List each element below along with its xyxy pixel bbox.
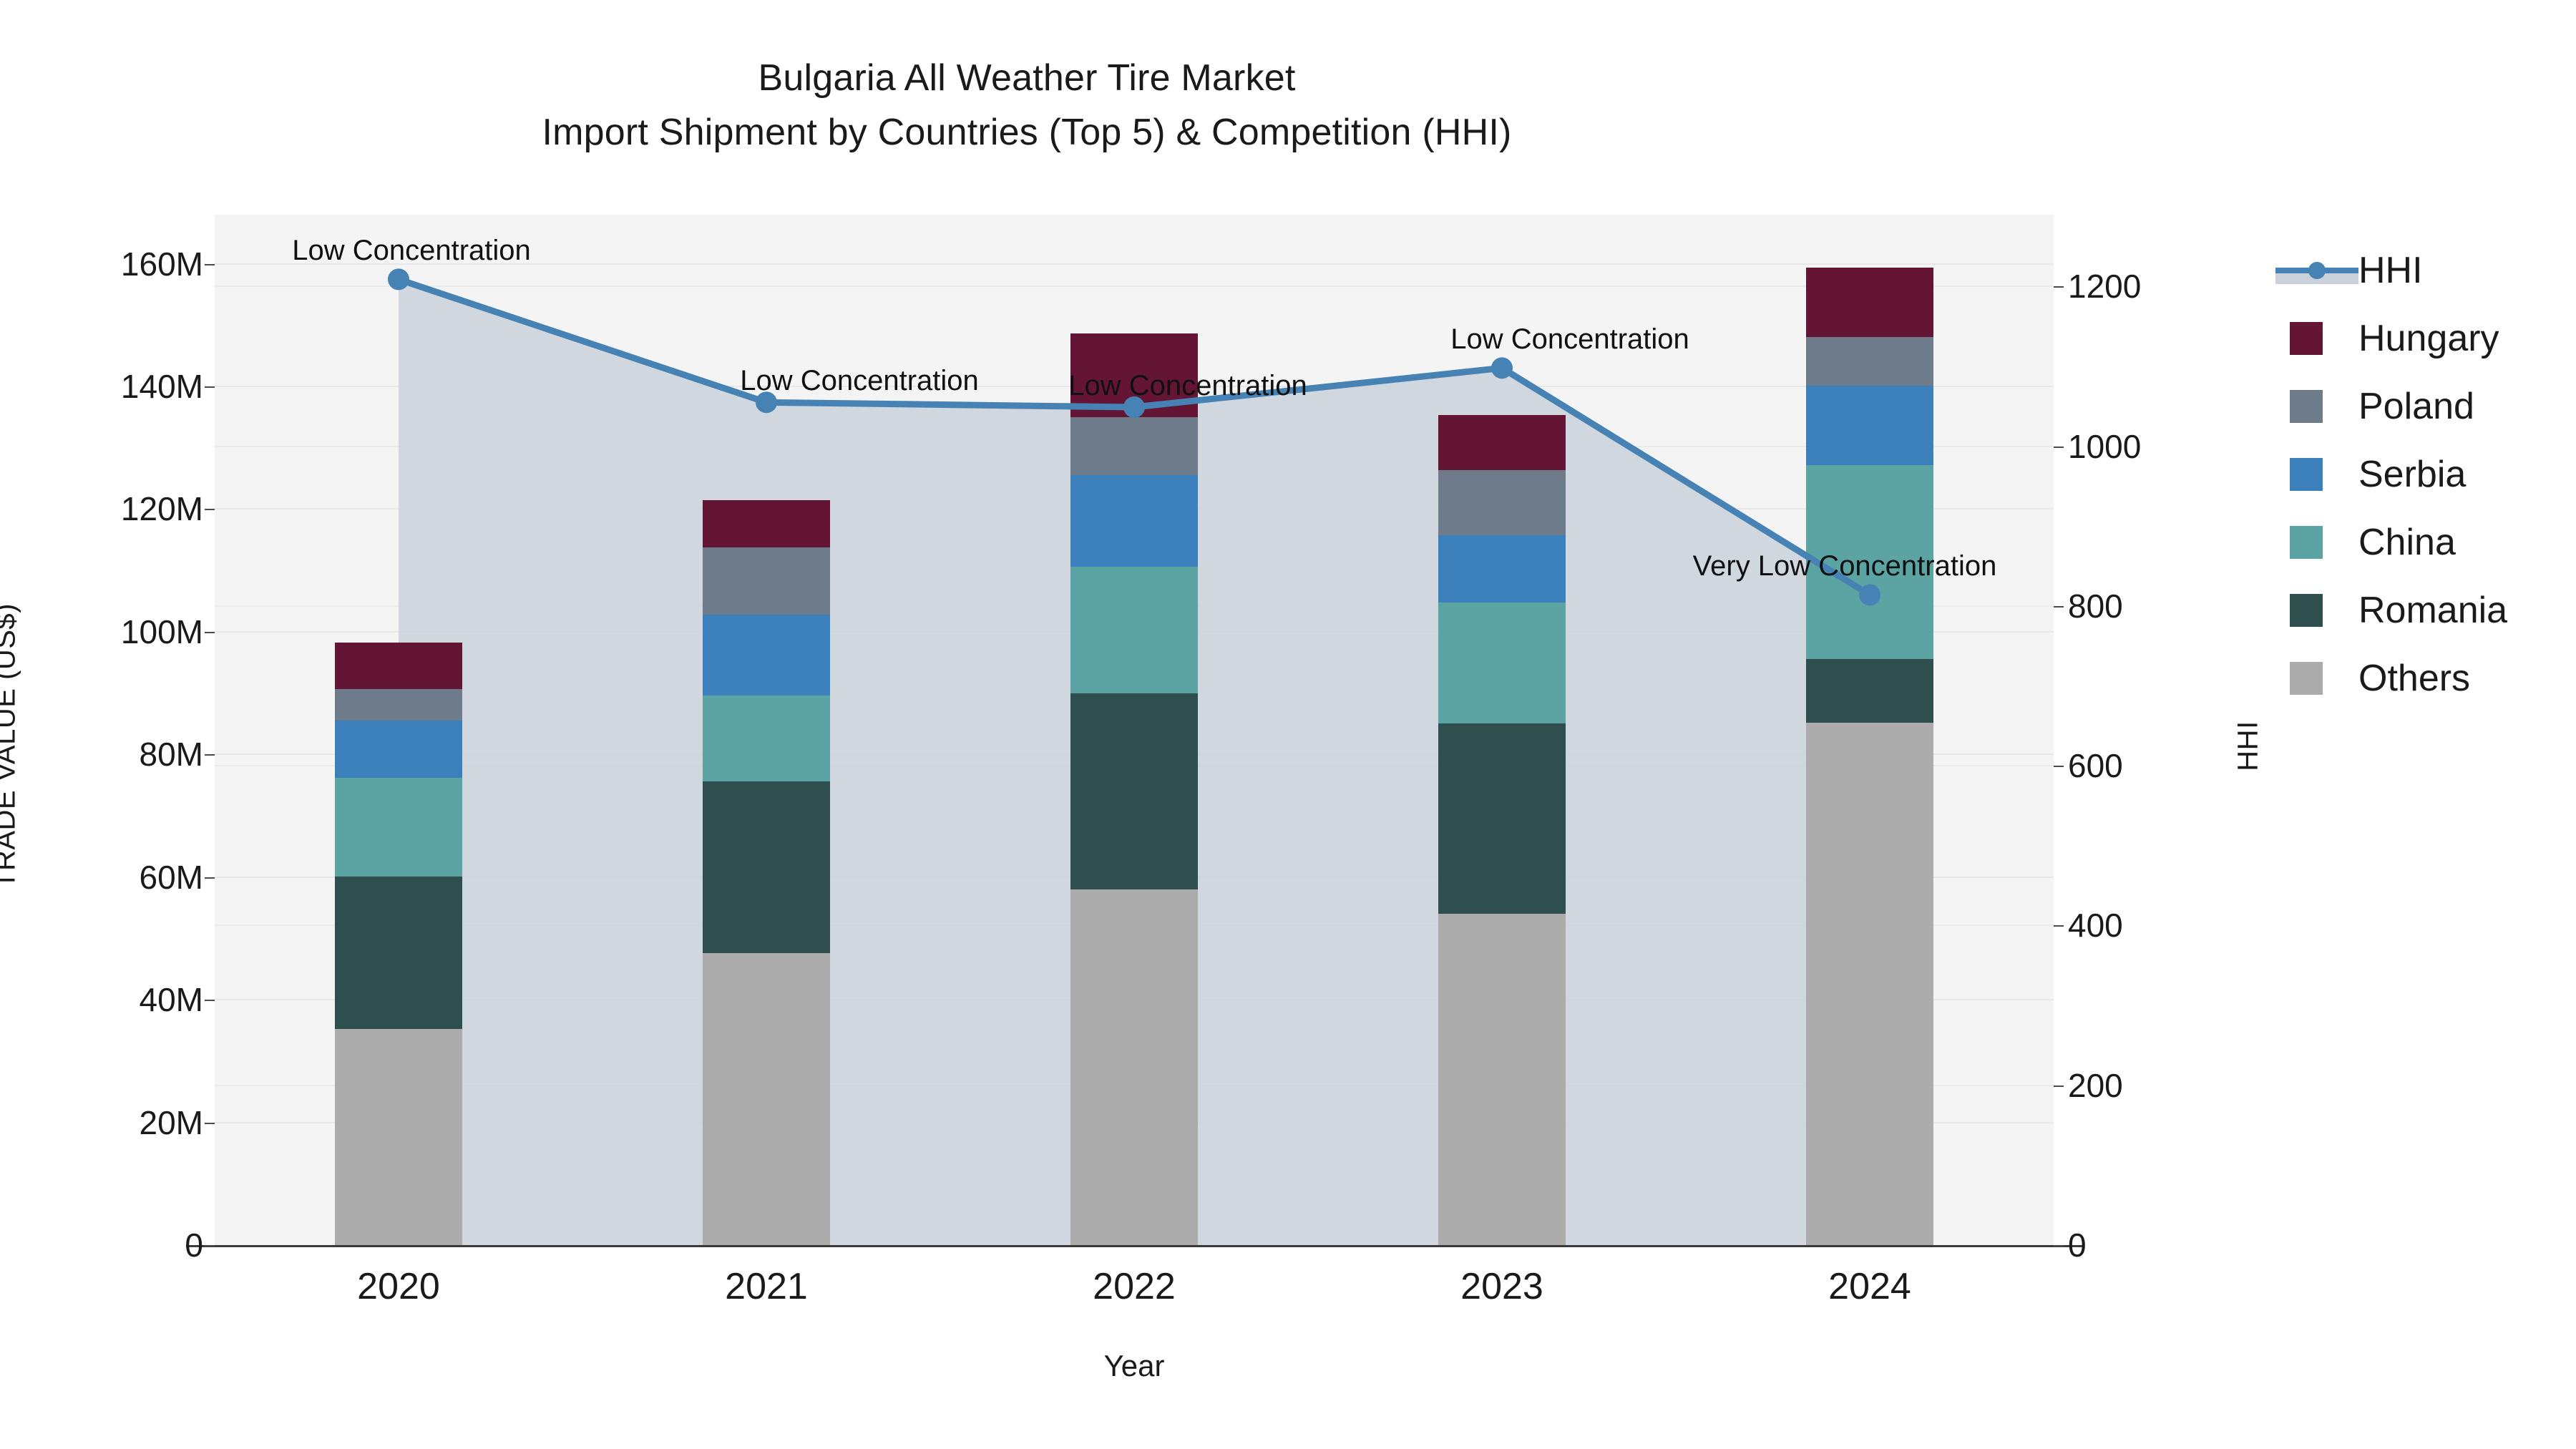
legend-swatch-hungary [2290, 322, 2323, 355]
bar-segment-romania-2022[interactable] [1070, 693, 1198, 889]
legend: HHIHungaryPolandSerbiaChinaRomaniaOthers [2275, 236, 2576, 712]
legend-swatch-china [2290, 526, 2323, 559]
legend-item-poland[interactable]: Poland [2275, 372, 2576, 440]
bar-segment-others-2024[interactable] [1806, 723, 1933, 1245]
bar-segment-romania-2023[interactable] [1438, 723, 1566, 914]
y-tickmark-left [205, 264, 215, 265]
legend-label-serbia: Serbia [2358, 453, 2466, 496]
y-tickmark-right [2054, 925, 2064, 927]
legend-swatch-others [2290, 662, 2323, 695]
y-tick-right-1200: 1200 [2068, 267, 2141, 306]
hhi-marker-2023[interactable] [1491, 357, 1513, 379]
y-tickmark-left [205, 632, 215, 633]
legend-label-others: Others [2358, 657, 2470, 700]
y-tickmark-right [2054, 447, 2064, 448]
y-tickmark-right [2054, 606, 2064, 608]
x-tick-2023: 2023 [1460, 1265, 1543, 1308]
bar-segment-serbia-2022[interactable] [1070, 475, 1198, 567]
legend-item-hungary[interactable]: Hungary [2275, 304, 2576, 372]
chart-root: Bulgaria All Weather Tire Market Import … [0, 0, 2576, 1449]
x-tick-2020: 2020 [357, 1265, 440, 1308]
bar-segment-poland-2021[interactable] [703, 547, 830, 614]
y-tickmark-right [2054, 1245, 2064, 1246]
legend-item-china[interactable]: China [2275, 508, 2576, 576]
y-tickmark-right [2054, 1085, 2064, 1087]
y-tick-left-160M: 160M [121, 245, 203, 283]
bar-segment-poland-2022[interactable] [1070, 417, 1198, 475]
legend-swatch-romania [2290, 594, 2323, 627]
y-tickmark-right [2054, 766, 2064, 767]
y-axis-left-label: TRADE VALUE (US$) [0, 460, 22, 1033]
bar-segment-others-2021[interactable] [703, 953, 830, 1245]
y-tick-right-800: 800 [2068, 587, 2123, 625]
chart-title-line-2: Import Shipment by Countries (Top 5) & C… [0, 110, 2054, 155]
legend-item-serbia[interactable]: Serbia [2275, 440, 2576, 508]
y-tickmark-left [205, 754, 215, 756]
y-tick-left-0: 0 [185, 1226, 203, 1264]
bar-segment-hungary-2021[interactable] [703, 500, 830, 547]
x-axis-line [186, 1245, 2082, 1247]
x-tick-2024: 2024 [1828, 1265, 1911, 1308]
annotation-2023: Low Concentration [1450, 323, 1689, 356]
bar-segment-china-2021[interactable] [703, 696, 830, 781]
bar-segment-serbia-2023[interactable] [1438, 535, 1566, 602]
y-tick-left-100M: 100M [121, 613, 203, 651]
legend-swatch-serbia [2290, 458, 2323, 491]
annotation-2024: Very Low Concentration [1693, 550, 1997, 582]
annotation-2021: Low Concentration [740, 365, 979, 397]
legend-label-china: China [2358, 521, 2456, 564]
y-tick-right-600: 600 [2068, 746, 2123, 785]
bar-segment-china-2020[interactable] [335, 778, 462, 877]
plot-inner [215, 215, 2054, 1245]
bar-segment-others-2022[interactable] [1070, 889, 1198, 1245]
y-tickmark-left [205, 1245, 215, 1246]
y-tick-right-0: 0 [2068, 1226, 2087, 1264]
bar-segment-romania-2021[interactable] [703, 781, 830, 953]
y-tick-left-60M: 60M [140, 858, 203, 897]
y-tick-right-400: 400 [2068, 906, 2123, 945]
chart-title-line-1: Bulgaria All Weather Tire Market [0, 56, 2054, 100]
legend-item-others[interactable]: Others [2275, 644, 2576, 712]
y-tick-left-20M: 20M [140, 1103, 203, 1142]
x-axis-label: Year [215, 1349, 2054, 1383]
y-tick-left-120M: 120M [121, 489, 203, 528]
bar-2020[interactable] [335, 643, 462, 1245]
legend-line-icon [2275, 254, 2358, 287]
legend-item-hhi[interactable]: HHI [2275, 236, 2576, 304]
legend-swatch-poland [2290, 390, 2323, 423]
y-tick-left-40M: 40M [140, 980, 203, 1019]
y-tickmark-left [205, 1000, 215, 1001]
bar-segment-serbia-2020[interactable] [335, 721, 462, 778]
bar-2023[interactable] [1438, 415, 1566, 1245]
y-axis-right-label: HHI [2233, 639, 2265, 854]
legend-item-romania[interactable]: Romania [2275, 576, 2576, 644]
y-tickmark-right [2054, 286, 2064, 288]
bar-segment-others-2020[interactable] [335, 1029, 462, 1245]
bar-segment-poland-2023[interactable] [1438, 470, 1566, 536]
y-tickmark-left [205, 877, 215, 879]
y-tick-left-80M: 80M [140, 735, 203, 774]
bar-segment-poland-2024[interactable] [1806, 337, 1933, 386]
bar-segment-hungary-2020[interactable] [335, 643, 462, 688]
bar-2021[interactable] [703, 500, 830, 1245]
x-tick-2021: 2021 [725, 1265, 808, 1308]
bar-segment-romania-2024[interactable] [1806, 659, 1933, 723]
legend-label-hungary: Hungary [2358, 317, 2499, 360]
y-tick-right-200: 200 [2068, 1066, 2123, 1105]
y-tick-left-140M: 140M [121, 367, 203, 406]
bar-segment-others-2023[interactable] [1438, 914, 1566, 1245]
bar-segment-china-2022[interactable] [1070, 567, 1198, 693]
x-tick-2022: 2022 [1093, 1265, 1176, 1308]
y-tickmark-left [205, 509, 215, 510]
legend-label-romania: Romania [2358, 589, 2507, 632]
annotation-2022: Low Concentration [1068, 370, 1307, 402]
y-axis-left-ticks: 020M40M60M80M100M120M140M160M [0, 0, 205, 1449]
bar-segment-hungary-2024[interactable] [1806, 268, 1933, 337]
legend-label-hhi: HHI [2358, 249, 2423, 292]
annotation-2020: Low Concentration [292, 235, 531, 267]
bar-segment-china-2023[interactable] [1438, 602, 1566, 724]
bar-segment-serbia-2021[interactable] [703, 615, 830, 696]
y-tick-right-1000: 1000 [2068, 427, 2141, 466]
bar-2022[interactable] [1070, 333, 1198, 1245]
bar-2024[interactable] [1806, 268, 1933, 1245]
bar-segment-serbia-2024[interactable] [1806, 386, 1933, 465]
gridline-right [215, 286, 2054, 287]
y-tickmark-left [205, 1123, 215, 1124]
plot-area [215, 215, 2054, 1245]
chart-title: Bulgaria All Weather Tire Market Import … [0, 56, 2054, 155]
y-tickmark-left [205, 386, 215, 388]
bar-segment-hungary-2023[interactable] [1438, 415, 1566, 469]
bar-segment-romania-2020[interactable] [335, 877, 462, 1029]
legend-label-poland: Poland [2358, 385, 2474, 428]
bar-segment-poland-2020[interactable] [335, 689, 462, 721]
